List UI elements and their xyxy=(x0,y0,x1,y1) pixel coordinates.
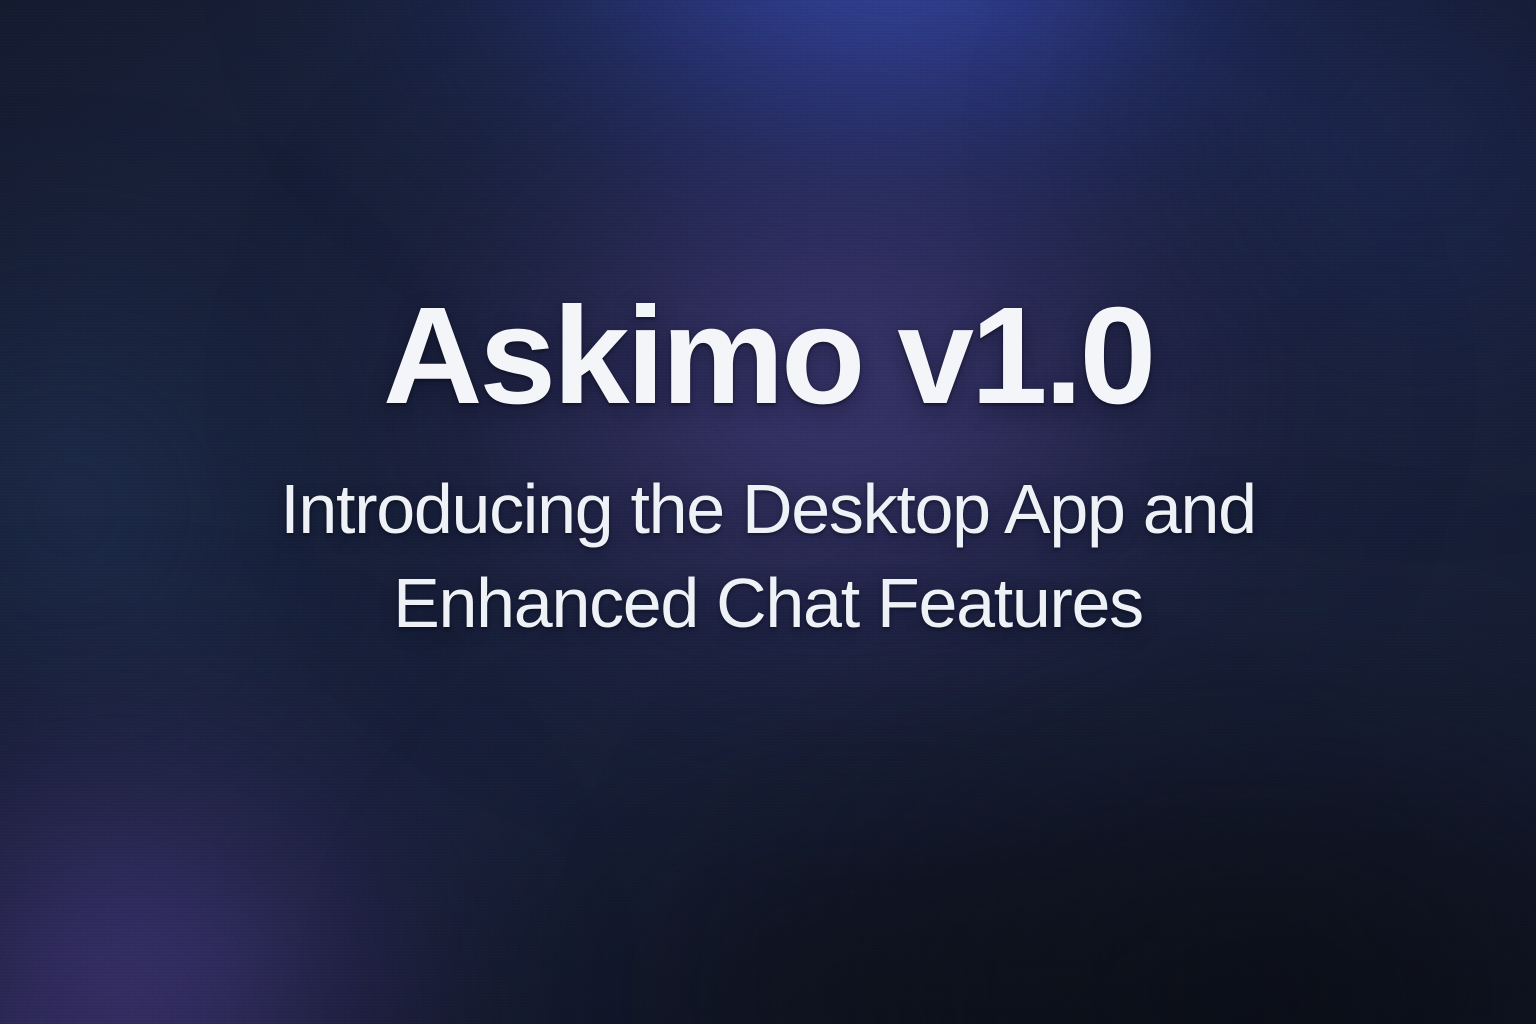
hero-copy-block: Askimo v1.0 Introducing the Desktop App … xyxy=(0,287,1536,737)
hero-banner: Askimo v1.0 Introducing the Desktop App … xyxy=(0,0,1536,1024)
hero-subtitle-line-1: Introducing the Desktop App and xyxy=(0,463,1536,557)
hero-title: Askimo v1.0 xyxy=(0,287,1536,425)
hero-subtitle: Introducing the Desktop App and Enhanced… xyxy=(0,463,1536,651)
hero-subtitle-line-2: Enhanced Chat Features xyxy=(0,557,1536,651)
